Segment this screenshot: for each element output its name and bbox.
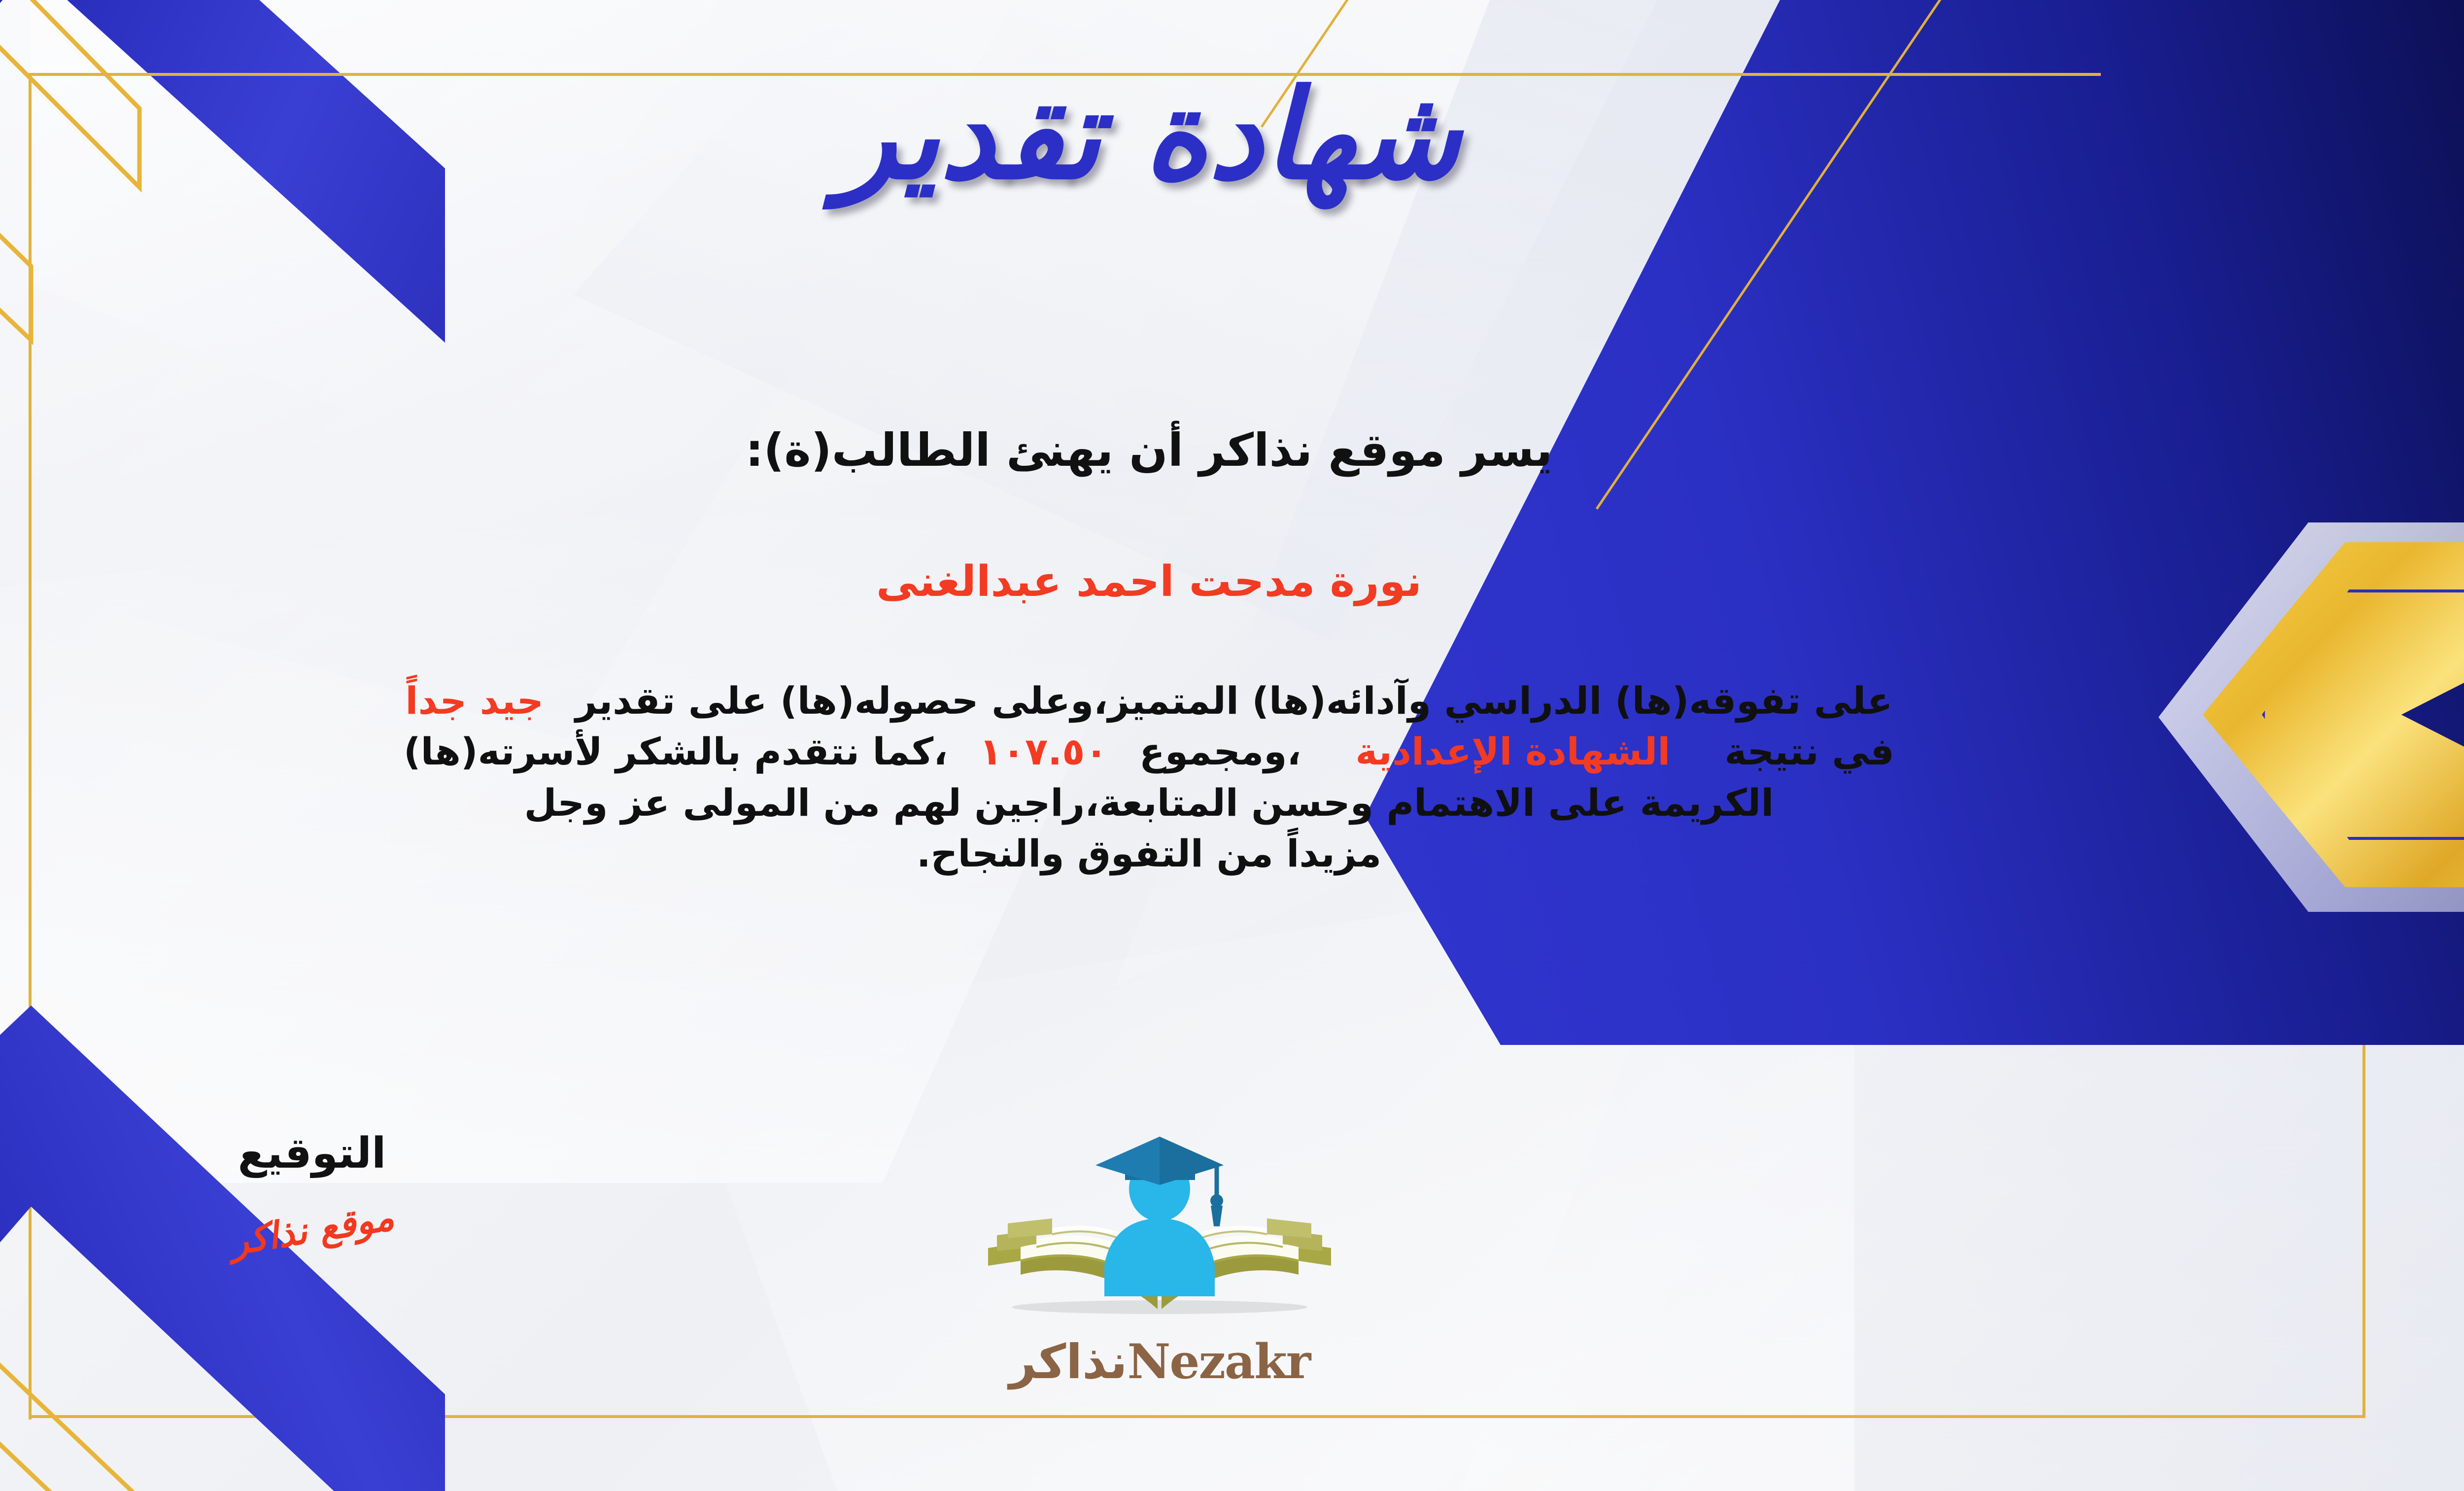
logo-latin-name: Nezakr bbox=[1128, 1334, 1310, 1389]
signature-block: التوقيع موقع نذاكر bbox=[139, 1129, 484, 1251]
graduate-book-icon bbox=[962, 1134, 1357, 1331]
body-line-2: في نتيجةالشهادة الإعدادية،ومجموع١٠٧.٥٠،ك… bbox=[0, 726, 2301, 777]
certificate-canvas: شهادة تقدير يسر موقع نذاكر أن يهنئ الطال… bbox=[0, 0, 2464, 1491]
body-line-1-text: على تفوقه(ها) الدراسي وآدائه(ها) المتميز… bbox=[575, 679, 1892, 723]
certificate-body: على تفوقه(ها) الدراسي وآدائه(ها) المتميز… bbox=[0, 675, 2301, 879]
logo-arabic-name: نذاكر bbox=[1009, 1334, 1128, 1389]
exam-name: الشهادة الإعدادية bbox=[1355, 729, 1670, 773]
logo-wordmark: Nezakrنذاكر bbox=[962, 1334, 1357, 1389]
thanks-text: ،كما نتقدم بالشكر لأسرته(ها) bbox=[404, 729, 948, 773]
body-line-4: مزيداً من التفوق والنجاح. bbox=[0, 828, 2301, 879]
exam-prefix: في نتيجة bbox=[1724, 729, 1894, 773]
certificate-title: شهادة تقدير bbox=[0, 58, 2464, 212]
body-line-1: على تفوقه(ها) الدراسي وآدائه(ها) المتميز… bbox=[0, 675, 2301, 726]
signature-label: التوقيع bbox=[139, 1129, 484, 1178]
site-logo: Nezakrنذاكر bbox=[962, 1134, 1357, 1389]
total-prefix: ،ومجموع bbox=[1139, 729, 1301, 773]
handwritten-signature: موقع نذاكر bbox=[227, 1196, 397, 1263]
intro-text: يسر موقع نذاكر أن يهنئ الطالب(ة): bbox=[0, 424, 2464, 477]
graduate-book-glyph bbox=[962, 1134, 1357, 1331]
student-name: نورة مدحت احمد عبدالغنى bbox=[0, 557, 2464, 606]
grade-value: جيد جداً bbox=[405, 679, 544, 723]
total-score: ١٠٧.٥٠ bbox=[979, 729, 1108, 773]
body-line-3: الكريمة على الاهتمام وحسن المتابعة،راجين… bbox=[0, 777, 2301, 828]
